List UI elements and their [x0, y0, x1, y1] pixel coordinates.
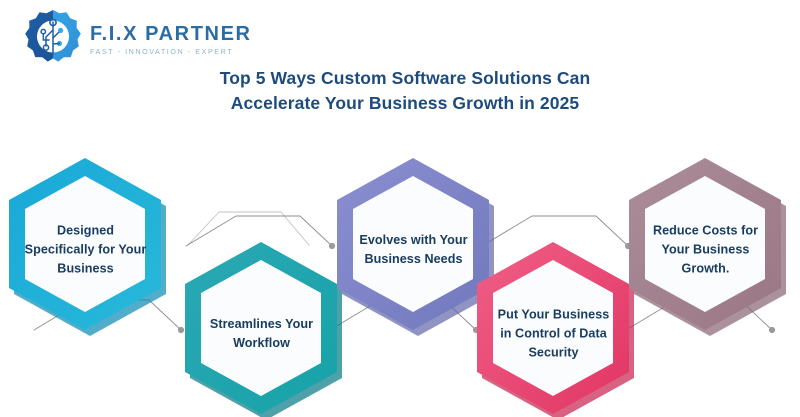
step-hexagon-5-label: Reduce Costs for Your Business Growth.	[651, 222, 761, 279]
step-hexagon-2-label: Streamlines Your Workflow	[202, 315, 322, 353]
step-hexagon-4-label: Put Your Business in Control of Data Sec…	[495, 306, 613, 363]
step-hexagon-1-label: Designed Specifically for Your Business	[23, 222, 149, 279]
step-hexagon-4[interactable]: Put Your Business in Control of Data Sec…	[466, 234, 641, 417]
brand-logo[interactable]: F.I.X PARTNER FAST - INNOVATION - EXPERT	[22, 8, 252, 66]
step-hexagon-2[interactable]: Streamlines Your Workflow	[174, 234, 349, 417]
step-hexagon-3-label: Evolves with Your Business Needs	[353, 231, 475, 269]
step-hexagon-1[interactable]: Designed Specifically for Your Business	[0, 150, 173, 350]
step-hexagon-5[interactable]: Reduce Costs for Your Business Growth.	[618, 150, 793, 350]
gear-circuit-logo-icon	[22, 8, 84, 66]
page-title-line-2: Accelerate Your Business Growth in 2025	[170, 91, 640, 116]
page-title-line-1: Top 5 Ways Custom Software Solutions Can	[170, 66, 640, 91]
brand-name: F.I.X PARTNER	[90, 24, 252, 45]
page-title: Top 5 Ways Custom Software Solutions Can…	[170, 66, 640, 117]
brand-tagline: FAST - INNOVATION - EXPERT	[90, 48, 252, 57]
brand-logo-text: F.I.X PARTNER FAST - INNOVATION - EXPERT	[90, 18, 252, 57]
infographic-canvas: F.I.X PARTNER FAST - INNOVATION - EXPERT…	[0, 0, 800, 417]
